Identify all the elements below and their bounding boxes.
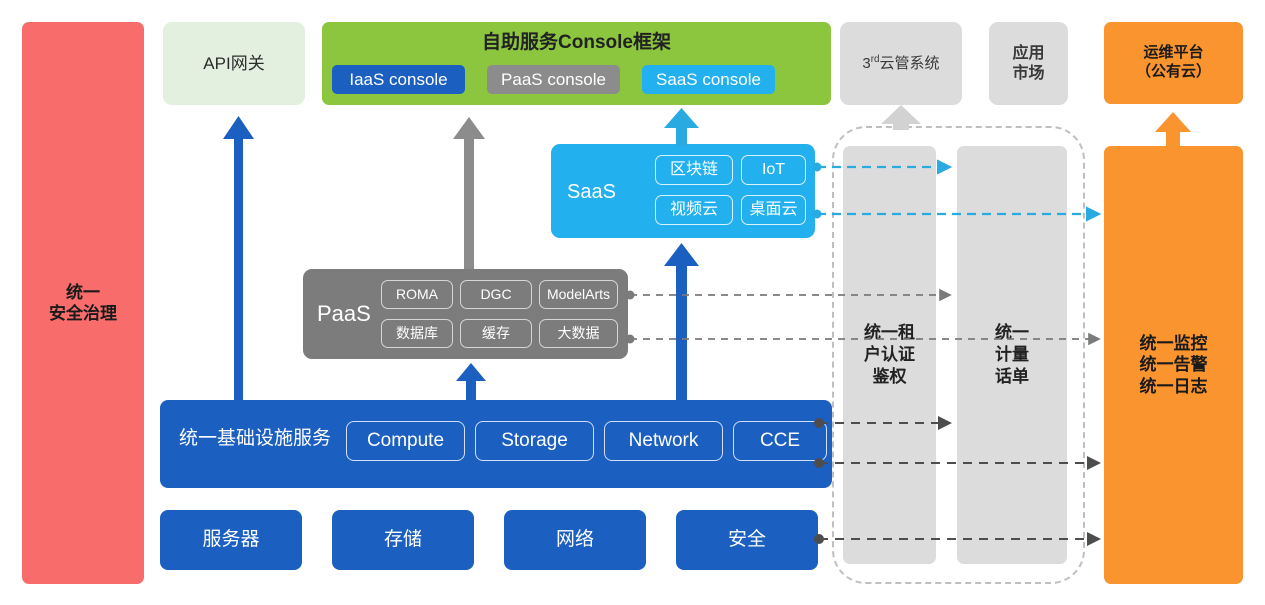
chip-paas-console[interactable]: PaaS console xyxy=(487,65,620,94)
saas-service-video-cloud[interactable]: 视频云 xyxy=(655,195,733,225)
chip-saas-console[interactable]: SaaS console xyxy=(642,65,775,94)
ops-platform-label-line2: （公有云） xyxy=(1136,63,1211,82)
column-unified-metering-billing: 统一 计量 话单 xyxy=(957,146,1067,564)
ops-body-line3: 统一日志 xyxy=(1140,376,1208,397)
paas-service-bigdata[interactable]: 大数据 xyxy=(539,319,618,348)
infra-service-network[interactable]: Network xyxy=(604,421,723,461)
saas-layer-label: SaaS xyxy=(567,180,616,205)
saas-service-desktop-cloud[interactable]: 桌面云 xyxy=(741,195,806,225)
infrastructure-label: 统一基础设施服务 xyxy=(179,427,331,451)
paas-service-cache[interactable]: 缓存 xyxy=(460,319,532,348)
auth-line2: 户认证 xyxy=(864,344,915,366)
api-gateway-box: API网关 xyxy=(163,22,305,105)
ops-body-line2: 统一告警 xyxy=(1140,354,1208,375)
arrow-infra-to-paas xyxy=(456,363,486,400)
third-party-cloud-label: 3rd云管系统 xyxy=(862,54,939,74)
api-gateway-label: API网关 xyxy=(203,53,264,74)
auth-line3: 鉴权 xyxy=(864,366,915,388)
app-market-label-line2: 市场 xyxy=(1012,64,1044,84)
infra-service-cce[interactable]: CCE xyxy=(733,421,827,461)
ops-body-line1: 统一监控 xyxy=(1140,333,1208,354)
paas-service-modelarts[interactable]: ModelArts xyxy=(539,280,618,309)
hardware-item-server[interactable]: 服务器 xyxy=(160,510,302,570)
arrow-saas-to-console xyxy=(664,108,699,146)
arrow-infra-to-saas xyxy=(664,243,699,400)
saas-layer-box: SaaS 区块链 IoT 视频云 桌面云 xyxy=(551,144,815,238)
unified-infrastructure-service-box: 统一基础设施服务 Compute Storage Network CCE xyxy=(160,400,832,488)
auth-line1: 统一租 xyxy=(864,322,915,344)
chip-iaas-console[interactable]: IaaS console xyxy=(332,65,465,94)
infra-service-storage[interactable]: Storage xyxy=(475,421,594,461)
paas-service-database[interactable]: 数据库 xyxy=(381,319,453,348)
ops-platform-body-box: 统一监控 统一告警 统一日志 xyxy=(1104,146,1243,584)
paas-service-roma[interactable]: ROMA xyxy=(381,280,453,309)
architecture-diagram: 统一 安全治理 API网关 自助服务Console框架 IaaS console… xyxy=(0,0,1265,605)
arrow-infra-to-api-gateway xyxy=(223,116,254,400)
billing-line2: 计量 xyxy=(995,344,1029,366)
billing-line1: 统一 xyxy=(995,322,1029,344)
ops-platform-label-line1: 运维平台 xyxy=(1136,44,1211,63)
saas-service-iot[interactable]: IoT xyxy=(741,155,806,185)
app-market-box: 应用 市场 xyxy=(989,22,1068,105)
billing-line3: 话单 xyxy=(995,366,1029,388)
third-party-cloud-management-box: 3rd云管系统 xyxy=(840,22,962,105)
arrow-ops-body-to-header xyxy=(1155,112,1191,146)
saas-service-blockchain[interactable]: 区块链 xyxy=(655,155,733,185)
paas-service-dgc[interactable]: DGC xyxy=(460,280,532,309)
security-label-line2: 安全治理 xyxy=(49,303,117,324)
security-label-line1: 统一 xyxy=(49,282,117,303)
hardware-item-storage[interactable]: 存储 xyxy=(332,510,474,570)
panel-unified-security-governance: 统一 安全治理 xyxy=(22,22,144,584)
paas-layer-label: PaaS xyxy=(317,300,371,328)
console-framework-title: 自助服务Console框架 xyxy=(322,31,831,55)
infra-service-compute[interactable]: Compute xyxy=(346,421,465,461)
ops-platform-header-box: 运维平台 （公有云） xyxy=(1104,22,1243,104)
column-unified-tenant-auth: 统一租 户认证 鉴权 xyxy=(843,146,936,564)
hardware-item-network[interactable]: 网络 xyxy=(504,510,646,570)
arrow-paas-to-console xyxy=(453,117,485,269)
app-market-label-line1: 应用 xyxy=(1012,44,1044,64)
paas-layer-box: PaaS ROMA DGC ModelArts 数据库 缓存 大数据 xyxy=(303,269,628,359)
self-service-console-framework: 自助服务Console框架 IaaS console PaaS console … xyxy=(322,22,831,105)
hardware-item-security[interactable]: 安全 xyxy=(676,510,818,570)
